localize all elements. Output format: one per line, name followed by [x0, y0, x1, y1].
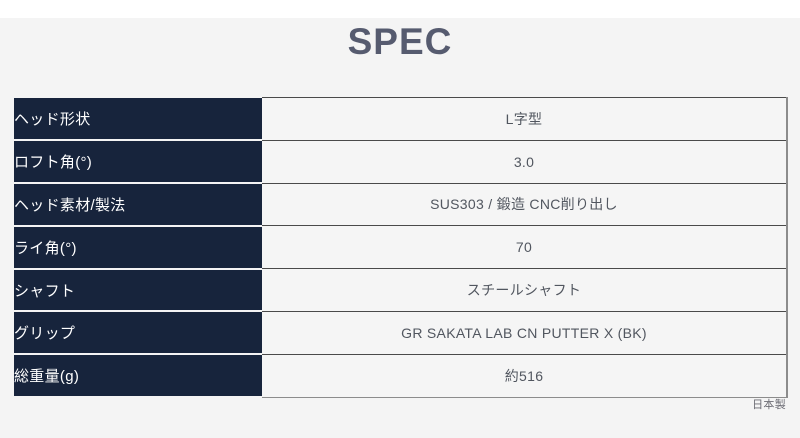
page-title: SPEC	[0, 22, 800, 63]
spec-table-body: ヘッド形状 L字型 ロフト角(°) 3.0 ヘッド素材/製法 SUS303 / …	[14, 98, 787, 398]
spec-value-grip: GR SAKATA LAB CN PUTTER X (BK)	[262, 311, 787, 354]
table-row: 総重量(g) 約516	[14, 354, 787, 397]
spec-label-grip: グリップ	[14, 311, 262, 354]
spec-value-lie-angle: 70	[262, 226, 787, 269]
spec-page: SPEC ヘッド形状 L字型 ロフト角(°) 3.0 ヘッド素材/製法 SUS3…	[0, 0, 800, 438]
spec-label-shaft: シャフト	[14, 269, 262, 312]
spec-value-total-weight: 約516	[262, 354, 787, 397]
origin-note: 日本製	[0, 396, 786, 412]
spec-label-lie-angle: ライ角(°)	[14, 226, 262, 269]
spec-value-loft-angle: 3.0	[262, 140, 787, 183]
spec-label-head-material: ヘッド素材/製法	[14, 183, 262, 226]
table-row: ヘッド素材/製法 SUS303 / 鍛造 CNC削り出し	[14, 183, 787, 226]
spec-label-head-shape: ヘッド形状	[14, 98, 262, 141]
spec-value-head-material: SUS303 / 鍛造 CNC削り出し	[262, 183, 787, 226]
table-row: ロフト角(°) 3.0	[14, 140, 787, 183]
table-row: ライ角(°) 70	[14, 226, 787, 269]
spec-value-head-shape: L字型	[262, 98, 787, 141]
spec-value-shaft: スチールシャフト	[262, 269, 787, 312]
table-row: シャフト スチールシャフト	[14, 269, 787, 312]
spec-table: ヘッド形状 L字型 ロフト角(°) 3.0 ヘッド素材/製法 SUS303 / …	[14, 97, 788, 398]
table-row: グリップ GR SAKATA LAB CN PUTTER X (BK)	[14, 311, 787, 354]
table-row: ヘッド形状 L字型	[14, 98, 787, 141]
spec-label-loft-angle: ロフト角(°)	[14, 140, 262, 183]
spec-label-total-weight: 総重量(g)	[14, 354, 262, 397]
